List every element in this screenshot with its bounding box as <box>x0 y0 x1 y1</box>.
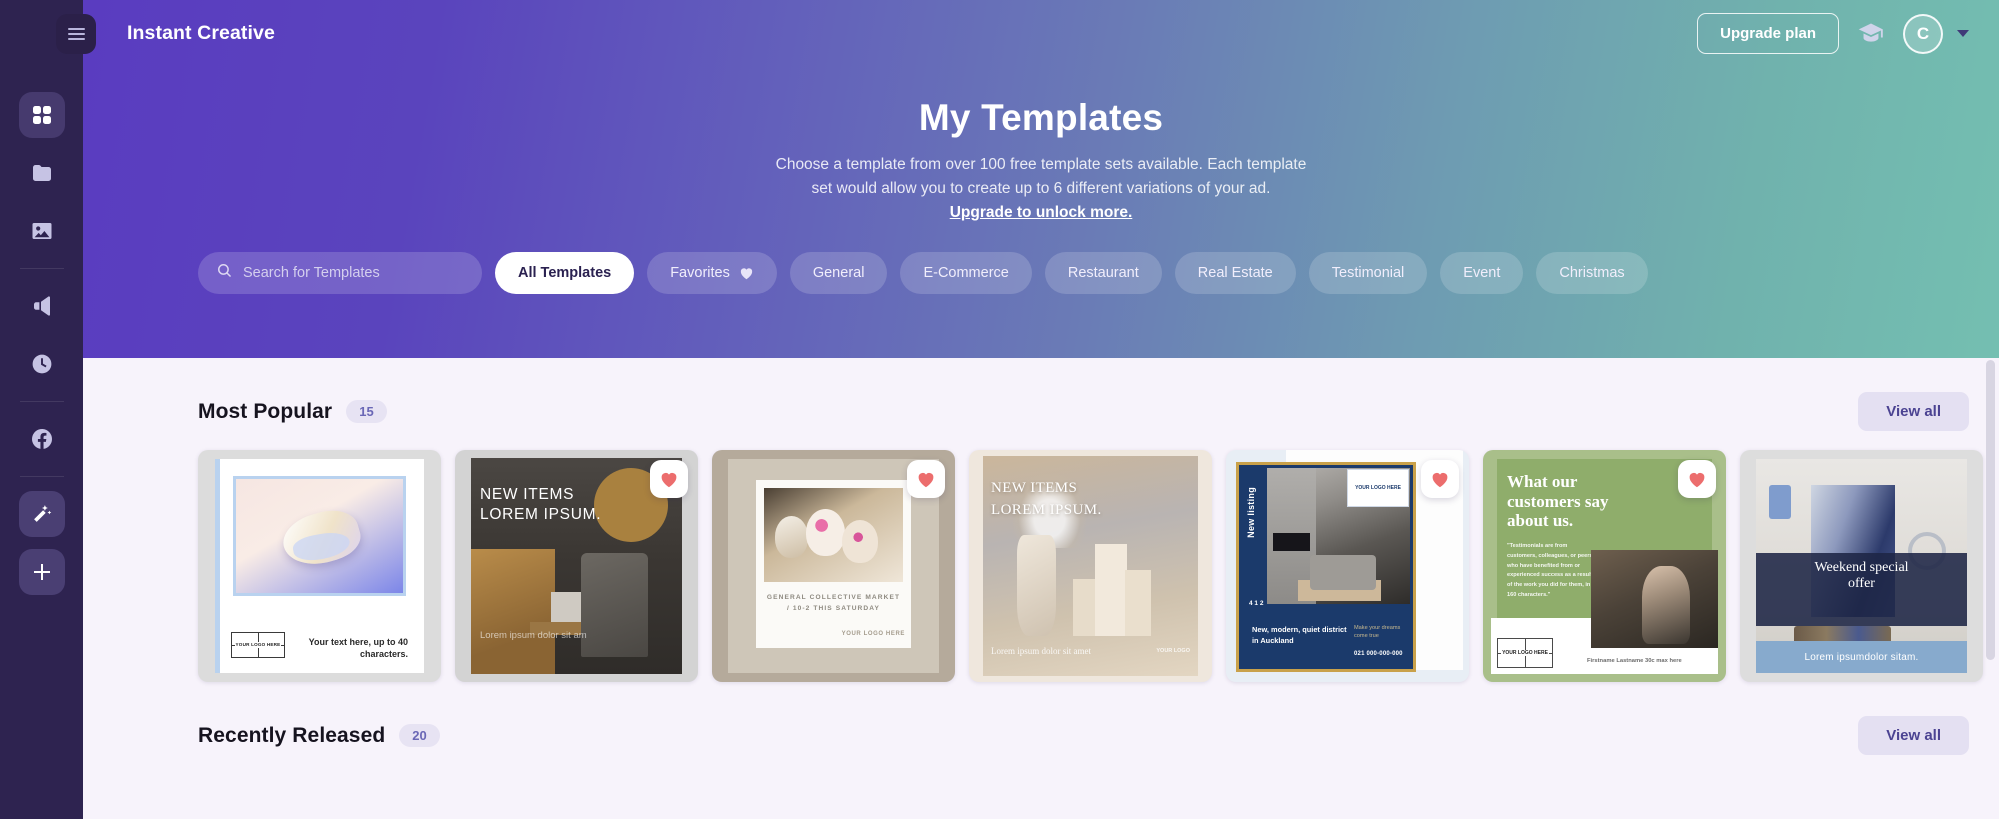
sidebar-item-campaigns[interactable] <box>19 283 65 329</box>
sidebar-group-primary <box>19 92 65 254</box>
view-all-button-recently-released[interactable]: View all <box>1858 716 1969 755</box>
hero-subtitle-line-2: set would allow you to create up to 6 di… <box>83 177 1999 201</box>
section-count-badge: 20 <box>399 724 439 747</box>
tab-label: E-Commerce <box>923 265 1008 281</box>
magic-wand-icon <box>30 502 54 526</box>
heart-icon <box>1687 470 1707 488</box>
avatar[interactable]: C <box>1903 14 1943 54</box>
listing-phone: 021 000-000-000 <box>1354 651 1403 657</box>
section-count-badge: 15 <box>346 400 386 423</box>
tab-label: All Templates <box>518 265 611 281</box>
sidebar <box>0 0 83 819</box>
tab-restaurant[interactable]: Restaurant <box>1045 252 1162 294</box>
listing-sub: Make your dreams come true <box>1354 624 1404 641</box>
tab-label: Testimonial <box>1332 265 1405 281</box>
grid-icon <box>30 103 54 127</box>
app-root: Instant Creative Upgrade plan C My Templ… <box>0 0 1999 819</box>
template-title: What our customers say about us. <box>1507 472 1647 531</box>
template-card[interactable]: What our customers say about us. "Testim… <box>1483 450 1726 682</box>
tab-christmas[interactable]: Christmas <box>1536 252 1647 294</box>
template-card[interactable]: NEW ITEMS LOREM IPSUM. Lorem ipsum dolor… <box>455 450 698 682</box>
tab-label: Real Estate <box>1198 265 1273 281</box>
sidebar-group-tools <box>19 491 65 595</box>
section-header-recently-released: Recently Released 20 View all <box>198 716 1969 755</box>
logo-placeholder: YOUR LOGO HERE <box>1497 638 1553 668</box>
favorite-button[interactable] <box>1421 460 1459 498</box>
facebook-icon <box>30 427 54 451</box>
template-quote: "Testimonials are from customers, collea… <box>1507 542 1593 601</box>
sidebar-item-grid[interactable] <box>19 92 65 138</box>
hero-banner: Instant Creative Upgrade plan C My Templ… <box>83 0 1999 358</box>
content-scroll-area[interactable]: Most Popular 15 View all YOUR LOGO HERE <box>83 358 1999 819</box>
tab-e-commerce[interactable]: E-Commerce <box>900 252 1031 294</box>
tab-label: Favorites <box>670 265 730 281</box>
template-card[interactable]: GENERAL COLLECTIVE MARKET / 10-2 THIS SA… <box>712 450 955 682</box>
template-caption: Your text here, up to 40 characters. <box>300 636 408 660</box>
hero-subtitle-line-1: Choose a template from over 100 free tem… <box>83 153 1999 177</box>
section-title: Recently Released <box>198 724 385 748</box>
page-title: My Templates <box>83 97 1999 139</box>
top-bar-actions: Upgrade plan C <box>1697 13 1969 54</box>
plus-icon <box>30 560 54 584</box>
sidebar-item-magic[interactable] <box>19 491 65 537</box>
hero-subtitle: Choose a template from over 100 free tem… <box>83 153 1999 225</box>
template-preview-sneaker: YOUR LOGO HERE Your text here, up to 40 … <box>198 450 441 682</box>
template-person-name: Firstname Lastname 30c max here <box>1587 658 1682 664</box>
logo-placeholder: YOUR LOGO HERE <box>842 630 905 638</box>
heart-icon <box>739 266 754 280</box>
favorite-button[interactable] <box>650 460 688 498</box>
template-caption: GENERAL COLLECTIVE MARKET / 10-2 THIS SA… <box>756 592 911 614</box>
view-all-button-most-popular[interactable]: View all <box>1858 392 1969 431</box>
heart-icon <box>1430 470 1450 488</box>
tab-label: Restaurant <box>1068 265 1139 281</box>
template-preview-candles: NEW ITEMS LOREM IPSUM. Lorem ipsum dolor… <box>969 450 1212 682</box>
template-preview-weekend-special: Weekend special offer Lorem ipsumdolor s… <box>1740 450 1983 682</box>
tab-all-templates[interactable]: All Templates <box>495 252 634 294</box>
sidebar-group-social <box>19 416 65 462</box>
template-photo <box>1591 550 1718 648</box>
clock-icon <box>30 352 54 376</box>
tab-favorites[interactable]: Favorites <box>647 252 777 294</box>
filter-bar: All Templates Favorites General E-Commer… <box>83 252 1999 294</box>
sidebar-group-marketing <box>19 283 65 387</box>
hamburger-icon <box>68 28 85 30</box>
template-card[interactable]: New listing YOUR LOGO HERE 4 1 2 New, m <box>1226 450 1469 682</box>
section-header-most-popular: Most Popular 15 View all <box>198 392 1969 431</box>
template-photo: Weekend special offer Lorem ipsumdolor s… <box>1756 459 1967 673</box>
template-title: Weekend special offer <box>1756 560 1967 594</box>
megaphone-icon <box>30 294 54 318</box>
search-input-wrapper[interactable] <box>198 252 482 294</box>
heart-icon <box>659 470 679 488</box>
graduation-cap-icon[interactable] <box>1857 20 1885 48</box>
template-card[interactable]: YOUR LOGO HERE Your text here, up to 40 … <box>198 450 441 682</box>
template-ribbon: New listing <box>1246 487 1256 538</box>
scrollbar-thumb[interactable] <box>1986 360 1995 660</box>
template-card[interactable]: NEW ITEMS LOREM IPSUM. Lorem ipsum dolor… <box>969 450 1212 682</box>
sidebar-divider <box>20 268 64 269</box>
template-photo <box>233 476 406 596</box>
hamburger-menu-button[interactable] <box>56 14 96 54</box>
sidebar-item-facebook[interactable] <box>19 416 65 462</box>
logo-placeholder: YOUR LOGO <box>1156 648 1190 656</box>
image-icon <box>30 219 54 243</box>
tab-label: General <box>813 265 865 281</box>
search-icon <box>216 262 233 284</box>
tab-label: Christmas <box>1559 265 1624 281</box>
template-title-line-1: NEW ITEMS <box>991 480 1077 497</box>
template-caption: Lorem ipsumdolor sitam. <box>1804 652 1918 663</box>
favorite-button[interactable] <box>907 460 945 498</box>
template-card[interactable]: Weekend special offer Lorem ipsumdolor s… <box>1740 450 1983 682</box>
scrollbar-track[interactable] <box>1986 360 1995 815</box>
heart-icon <box>916 470 936 488</box>
template-card-grid: YOUR LOGO HERE Your text here, up to 40 … <box>198 450 1969 682</box>
sidebar-divider <box>20 401 64 402</box>
search-input[interactable] <box>243 265 464 281</box>
listing-specs: 4 1 2 <box>1249 597 1263 611</box>
brand-title: Instant Creative <box>127 22 275 45</box>
template-title-line-2: LOREM IPSUM. <box>991 502 1102 519</box>
tab-general[interactable]: General <box>790 252 888 294</box>
section-title: Most Popular <box>198 400 332 424</box>
tab-event[interactable]: Event <box>1440 252 1523 294</box>
logo-placeholder: YOUR LOGO HERE <box>231 632 285 658</box>
folder-icon <box>30 161 54 185</box>
template-title-line-2: LOREM IPSUM. <box>480 506 601 524</box>
template-title-line-1: NEW ITEMS <box>480 486 574 504</box>
tab-real-estate[interactable]: Real Estate <box>1175 252 1296 294</box>
upgrade-plan-button[interactable]: Upgrade plan <box>1697 13 1839 54</box>
favorite-button[interactable] <box>1678 460 1716 498</box>
top-bar: Instant Creative Upgrade plan C <box>83 0 1999 67</box>
tab-label: Event <box>1463 265 1500 281</box>
template-caption: Lorem ipsum dolor sit am <box>480 631 587 642</box>
listing-headline: New, modern, quiet district in Auckland <box>1252 625 1348 646</box>
sidebar-item-folder[interactable] <box>19 150 65 196</box>
logo-placeholder: YOUR LOGO HERE <box>1347 469 1409 507</box>
sidebar-item-schedule[interactable] <box>19 341 65 387</box>
chevron-down-icon[interactable] <box>1957 30 1969 37</box>
upgrade-unlock-link[interactable]: Upgrade to unlock more. <box>950 204 1133 221</box>
template-photo <box>764 488 903 582</box>
sidebar-item-media[interactable] <box>19 208 65 254</box>
template-caption: Lorem ipsum dolor sit amet <box>991 646 1091 656</box>
main-area: Instant Creative Upgrade plan C My Templ… <box>83 0 1999 819</box>
sidebar-item-create[interactable] <box>19 549 65 595</box>
sidebar-divider <box>20 476 64 477</box>
tab-testimonial[interactable]: Testimonial <box>1309 252 1428 294</box>
